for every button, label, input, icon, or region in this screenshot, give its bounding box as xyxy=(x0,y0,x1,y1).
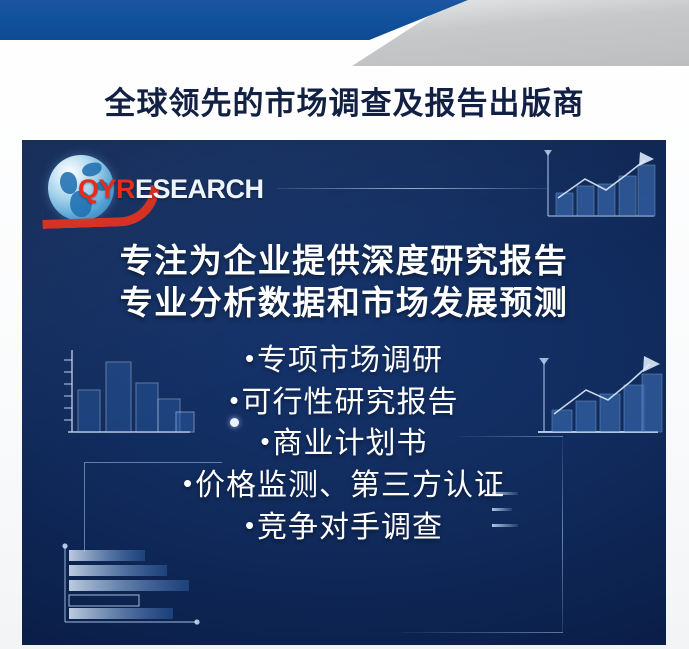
list-item: •专项市场调研 xyxy=(22,340,666,382)
horizontal-bar-chart-icon xyxy=(47,540,232,635)
list-item-label: 可行性研究报告 xyxy=(242,386,459,419)
logo-divider xyxy=(277,188,547,189)
heading-line-1: 专注为企业提供深度研究报告 xyxy=(22,240,666,282)
brand-logo: QYRESEARCH xyxy=(40,153,255,225)
bullet-icon: • xyxy=(260,423,270,459)
bottom-frame-line xyxy=(402,632,563,633)
content-panel: QYRESEARCH xyxy=(22,140,666,645)
list-item-label: 商业计划书 xyxy=(273,427,428,460)
brand-name: QYRESEARCH xyxy=(78,174,264,205)
bullet-icon: • xyxy=(245,507,255,543)
headings-group: 专注为企业提供深度研究报告 专业分析数据和市场发展预测 xyxy=(22,240,666,324)
brand-name-secondary: ESEARCH xyxy=(135,174,264,204)
service-list: •专项市场调研 •可行性研究报告 •商业计划书 •价格监测、第三方认证 •竞争对… xyxy=(22,340,666,548)
list-item-label: 价格监测、第三方认证 xyxy=(195,469,505,502)
brand-name-primary: QYR xyxy=(78,174,135,204)
list-item: •价格监测、第三方认证 xyxy=(22,465,666,507)
page-title: 全球领先的市场调查及报告出版商 xyxy=(105,78,585,123)
bullet-icon: • xyxy=(229,382,239,418)
bullet-icon: • xyxy=(183,465,193,501)
heading-line-2: 专业分析数据和市场发展预测 xyxy=(22,282,666,324)
list-item: •商业计划书 xyxy=(22,423,666,465)
bar-chart-up-icon-top-right xyxy=(530,146,660,224)
header-band xyxy=(0,0,689,66)
list-item: •可行性研究报告 xyxy=(22,382,666,424)
promo-poster: 全球领先的市场调查及报告出版商 QYRESEARCH xyxy=(0,0,689,649)
list-item: •竞争对手调查 xyxy=(22,507,666,549)
list-item-label: 专项市场调研 xyxy=(257,344,443,377)
bullet-icon: • xyxy=(245,340,255,376)
page-title-area: 全球领先的市场调查及报告出版商 xyxy=(0,64,689,136)
blue-parallelogram-shape xyxy=(0,0,468,40)
list-item-label: 竞争对手调查 xyxy=(257,511,443,544)
